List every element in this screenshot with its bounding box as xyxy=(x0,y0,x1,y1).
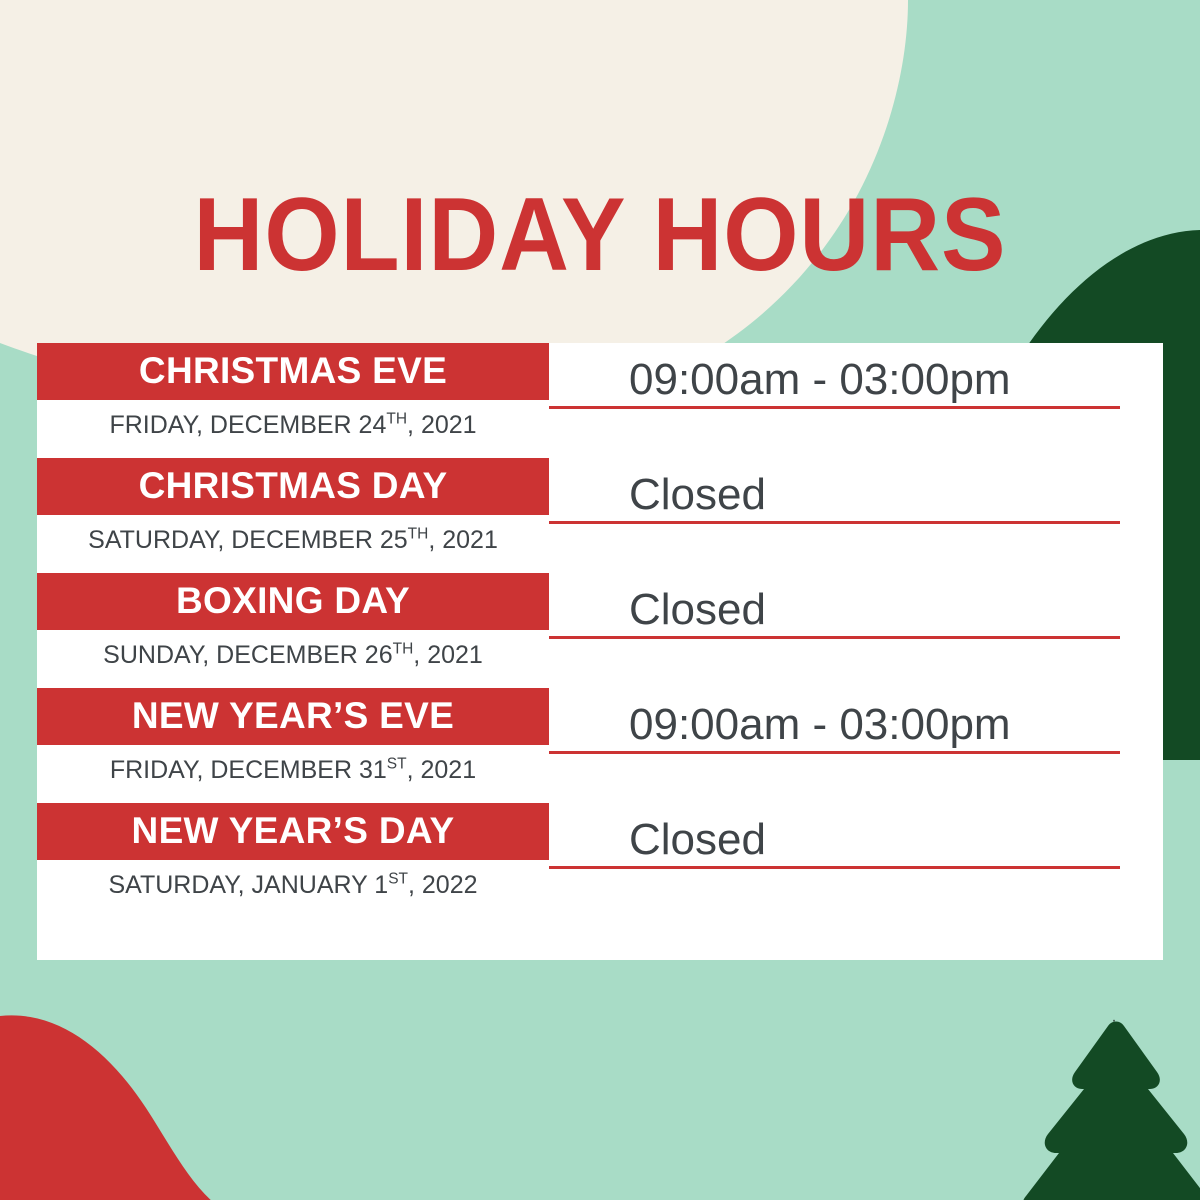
hours-card: CHRISTMAS EVE FRIDAY, DECEMBER 24TH, 202… xyxy=(37,343,1163,960)
row-left-column: BOXING DAY SUNDAY, DECEMBER 26TH, 2021 xyxy=(37,573,549,668)
date-prefix: FRIDAY, DECEMBER 24 xyxy=(109,411,386,439)
holiday-hours-poster: HOLIDAY HOURS CHRISTMAS EVE FRIDAY, DECE… xyxy=(0,0,1200,1200)
holiday-label-bar: CHRISTMAS EVE xyxy=(37,343,549,400)
holiday-name: CHRISTMAS EVE xyxy=(139,352,447,389)
row-right-column: Closed xyxy=(549,573,1120,639)
holiday-date: SATURDAY, JANUARY 1ST, 2022 xyxy=(37,860,549,898)
row-right-column: Closed xyxy=(549,458,1120,524)
holiday-name: NEW YEAR’S DAY xyxy=(132,812,455,849)
holiday-label-bar: CHRISTMAS DAY xyxy=(37,458,549,515)
date-suffix: , 2021 xyxy=(407,411,477,439)
date-suffix: , 2022 xyxy=(408,871,478,899)
holiday-label-bar: NEW YEAR’S EVE xyxy=(37,688,549,745)
date-ordinal: TH xyxy=(393,641,414,658)
holiday-date: SUNDAY, DECEMBER 26TH, 2021 xyxy=(37,630,549,668)
hours-row-new-years-day: NEW YEAR’S DAY SATURDAY, JANUARY 1ST, 20… xyxy=(37,803,1163,918)
row-left-column: CHRISTMAS EVE FRIDAY, DECEMBER 24TH, 202… xyxy=(37,343,549,438)
holiday-name: CHRISTMAS DAY xyxy=(139,467,448,504)
holiday-hours-value: Closed xyxy=(629,818,766,862)
holiday-hours-value: 09:00am - 03:00pm xyxy=(629,358,1011,402)
holiday-date: SATURDAY, DECEMBER 25TH, 2021 xyxy=(37,515,549,553)
date-prefix: SATURDAY, JANUARY 1 xyxy=(108,871,388,899)
holiday-label-bar: BOXING DAY xyxy=(37,573,549,630)
holiday-date: FRIDAY, DECEMBER 24TH, 2021 xyxy=(37,400,549,438)
hours-list: CHRISTMAS EVE FRIDAY, DECEMBER 24TH, 202… xyxy=(37,343,1163,918)
date-prefix: FRIDAY, DECEMBER 31 xyxy=(110,756,387,784)
date-ordinal: ST xyxy=(387,756,407,773)
hours-row-christmas-eve: CHRISTMAS EVE FRIDAY, DECEMBER 24TH, 202… xyxy=(37,343,1163,458)
holiday-date: FRIDAY, DECEMBER 31ST, 2021 xyxy=(37,745,549,783)
holiday-hours-value: Closed xyxy=(629,588,766,632)
row-right-column: Closed xyxy=(549,803,1120,869)
holiday-name: BOXING DAY xyxy=(176,582,410,619)
date-suffix: , 2021 xyxy=(413,641,483,669)
row-right-column: 09:00am - 03:00pm xyxy=(549,343,1120,409)
date-ordinal: TH xyxy=(408,526,429,543)
holiday-name: NEW YEAR’S EVE xyxy=(132,697,454,734)
hours-row-new-years-eve: NEW YEAR’S EVE FRIDAY, DECEMBER 31ST, 20… xyxy=(37,688,1163,803)
row-left-column: NEW YEAR’S DAY SATURDAY, JANUARY 1ST, 20… xyxy=(37,803,549,898)
page-title: HOLIDAY HOURS xyxy=(42,183,1158,287)
holiday-hours-value: Closed xyxy=(629,473,766,517)
date-ordinal: TH xyxy=(386,411,407,428)
hours-row-christmas-day: CHRISTMAS DAY SATURDAY, DECEMBER 25TH, 2… xyxy=(37,458,1163,573)
row-left-column: CHRISTMAS DAY SATURDAY, DECEMBER 25TH, 2… xyxy=(37,458,549,553)
date-ordinal: ST xyxy=(388,871,408,888)
hours-row-boxing-day: BOXING DAY SUNDAY, DECEMBER 26TH, 2021 C… xyxy=(37,573,1163,688)
date-prefix: SATURDAY, DECEMBER 25 xyxy=(88,526,408,554)
date-prefix: SUNDAY, DECEMBER 26 xyxy=(103,641,392,669)
date-suffix: , 2021 xyxy=(428,526,498,554)
date-suffix: , 2021 xyxy=(407,756,477,784)
row-right-column: 09:00am - 03:00pm xyxy=(549,688,1120,754)
holiday-label-bar: NEW YEAR’S DAY xyxy=(37,803,549,860)
holiday-hours-value: 09:00am - 03:00pm xyxy=(629,703,1011,747)
row-left-column: NEW YEAR’S EVE FRIDAY, DECEMBER 31ST, 20… xyxy=(37,688,549,783)
